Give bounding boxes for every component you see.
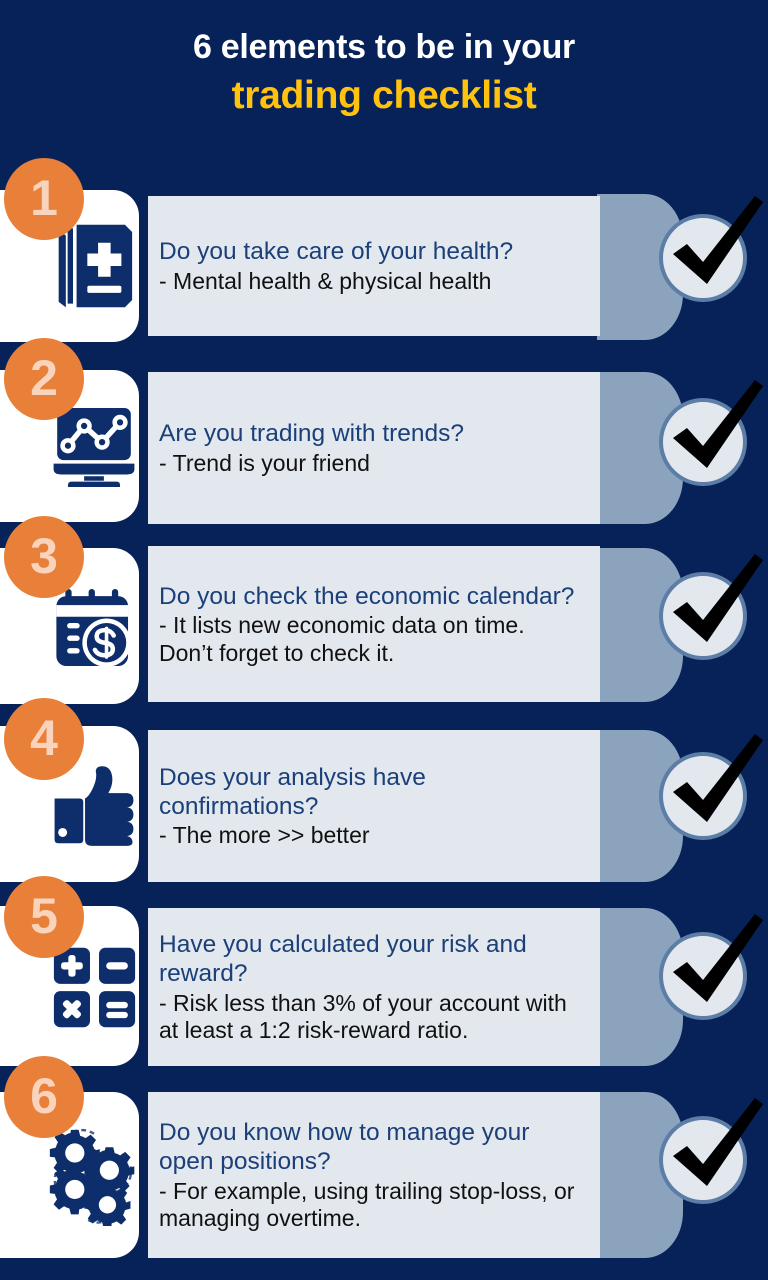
monitor-line-chart-icon [50, 406, 138, 489]
item-number: 3 [30, 531, 58, 581]
item-question: Does your analysis have confirmations? [159, 764, 578, 821]
checkmark-icon [663, 730, 768, 838]
item-number: 2 [30, 353, 58, 403]
item-question: Do you take care of your health? [159, 238, 578, 267]
item-number: 1 [30, 173, 58, 223]
text-card: Does your analysis have confirmations?- … [148, 730, 600, 882]
checkmark-icon [663, 910, 768, 1018]
checkmark-icon [663, 1094, 768, 1202]
item-answer: - Mental health & physical health [159, 268, 578, 296]
item-number: 5 [30, 891, 58, 941]
item-answer: - The more >> better [159, 822, 578, 850]
checklist-check[interactable] [659, 752, 747, 840]
item-number: 4 [30, 713, 58, 763]
item-number-badge: 4 [4, 698, 84, 780]
checkmark-icon [663, 376, 768, 484]
item-number-badge: 5 [4, 876, 84, 958]
item-answer: - For example, using trailing stop-loss,… [159, 1178, 578, 1233]
item-question: Are you trading with trends? [159, 420, 578, 449]
item-number-badge: 1 [4, 158, 84, 240]
item-question: Do you know how to manage your open posi… [159, 1119, 578, 1176]
item-question: Have you calculated your risk and reward… [159, 931, 578, 988]
calendar-dollar-icon [51, 585, 137, 670]
item-answer: - Trend is your friend [159, 450, 578, 478]
text-card: Have you calculated your risk and reward… [148, 908, 600, 1066]
gears-icon [46, 1126, 142, 1226]
text-card: Are you trading with trends?- Trend is y… [148, 372, 600, 524]
item-number-badge: 6 [4, 1056, 84, 1138]
item-number-badge: 2 [4, 338, 84, 420]
calculator-icon [52, 946, 137, 1029]
header: 6 elements to be in your trading checkli… [0, 0, 768, 152]
thumbs-up-icon [51, 766, 137, 847]
checkmark-icon [663, 550, 768, 658]
text-card: Do you know how to manage your open posi… [148, 1092, 600, 1258]
item-number-badge: 3 [4, 516, 84, 598]
medical-book-icon [53, 223, 136, 309]
text-card: Do you take care of your health?- Mental… [148, 196, 600, 336]
page-title-line-2: trading checklist [232, 73, 537, 118]
checklist-check[interactable] [659, 398, 747, 486]
item-answer: - It lists new economic data on time. Do… [159, 612, 578, 667]
infographic-canvas: 6 elements to be in your trading checkli… [0, 0, 768, 1280]
item-answer: - Risk less than 3% of your account with… [159, 990, 578, 1045]
page-title-line-1: 6 elements to be in your [193, 28, 575, 67]
checklist-check[interactable] [659, 932, 747, 1020]
checklist-check[interactable] [659, 1116, 747, 1204]
text-card: Do you check the economic calendar?- It … [148, 546, 600, 702]
item-question: Do you check the economic calendar? [159, 583, 578, 612]
checkmark-icon [663, 192, 768, 300]
checklist-check[interactable] [659, 572, 747, 660]
item-number: 6 [30, 1071, 58, 1121]
checklist-check[interactable] [659, 214, 747, 302]
